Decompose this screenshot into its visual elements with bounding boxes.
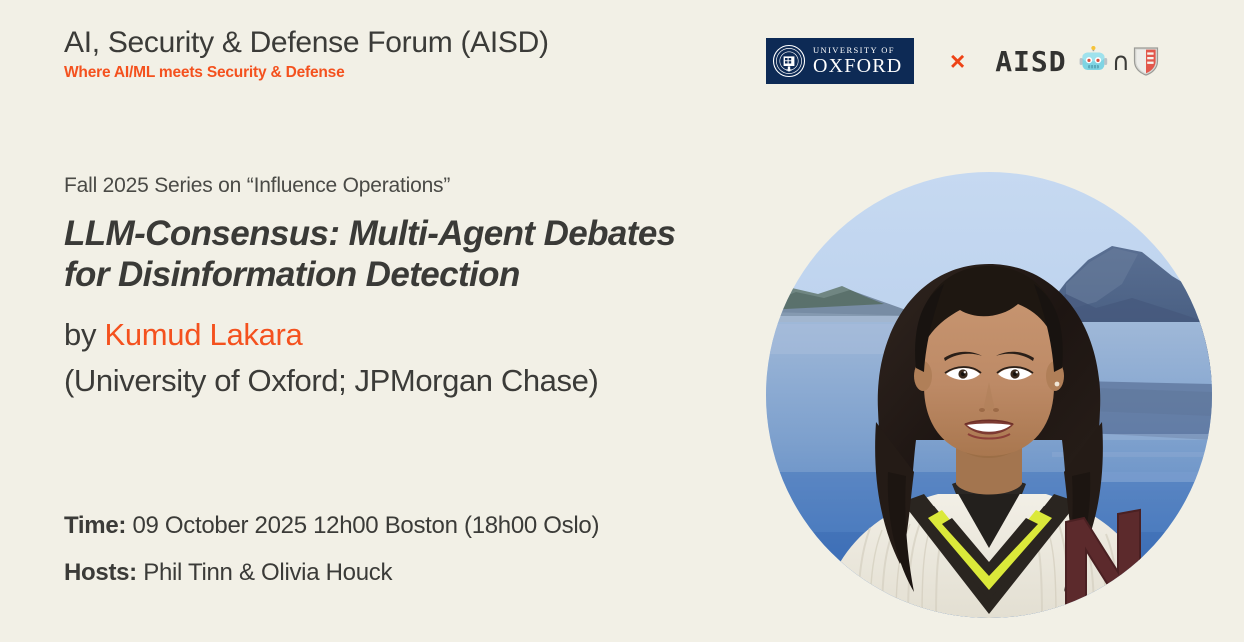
- oxford-crest-icon: [772, 44, 806, 78]
- hosts-label: Hosts:: [64, 559, 137, 586]
- brand-tagline: Where AI/ML meets Security & Defense: [64, 64, 549, 82]
- page-header: AI, Security & Defense Forum (AISD) Wher…: [0, 0, 1244, 110]
- talk-title: LLM-Consensus: Multi-Agent Debates for D…: [64, 214, 764, 296]
- speaker-portrait-image: [766, 172, 1212, 618]
- series-line: Fall 2025 Series on “Influence Operation…: [64, 174, 764, 198]
- speaker-portrait: [766, 172, 1212, 618]
- talk-title-line-1: LLM-Consensus: Multi-Agent Debates: [64, 214, 764, 255]
- speaker-name: Kumud Lakara: [104, 317, 302, 352]
- speaker-affiliation: (University of Oxford; JPMorgan Chase): [64, 363, 764, 399]
- time-label: Time:: [64, 512, 126, 539]
- talk-copy-block: Fall 2025 Series on “Influence Operation…: [64, 174, 764, 399]
- by-label: by: [64, 317, 104, 352]
- oxford-wordmark-line2: OXFORD: [813, 56, 902, 76]
- brand-title: AI, Security & Defense Forum (AISD): [64, 26, 549, 59]
- cross-symbol: ×: [950, 48, 965, 74]
- robot-icon: [1079, 46, 1109, 76]
- time-row: Time: 09 October 2025 12h00 Boston (18h0…: [64, 512, 804, 540]
- aisd-emoji-group: ∩: [1079, 46, 1159, 76]
- oxford-wordmark-line1: UNIVERSITY OF: [813, 46, 902, 55]
- hosts-value: Phil Tinn & Olivia Houck: [143, 559, 392, 586]
- byline: by Kumud Lakara: [64, 317, 764, 353]
- event-details: Time: 09 October 2025 12h00 Boston (18h0…: [64, 512, 804, 587]
- time-value: 09 October 2025 12h00 Boston (18h00 Oslo…: [132, 512, 599, 539]
- hosts-row: Hosts: Phil Tinn & Olivia Houck: [64, 559, 804, 587]
- shield-icon: [1133, 46, 1159, 76]
- logo-row: UNIVERSITY OF OXFORD × AISD: [766, 36, 1159, 86]
- oxford-wordmark: UNIVERSITY OF OXFORD: [813, 46, 902, 77]
- brand-block: AI, Security & Defense Forum (AISD) Wher…: [64, 26, 549, 82]
- talk-title-line-2: for Disinformation Detection: [64, 255, 764, 296]
- aisd-wordmark: AISD: [995, 45, 1066, 78]
- oxford-university-logo: UNIVERSITY OF OXFORD: [766, 38, 914, 84]
- intersection-symbol: ∩: [1112, 47, 1130, 76]
